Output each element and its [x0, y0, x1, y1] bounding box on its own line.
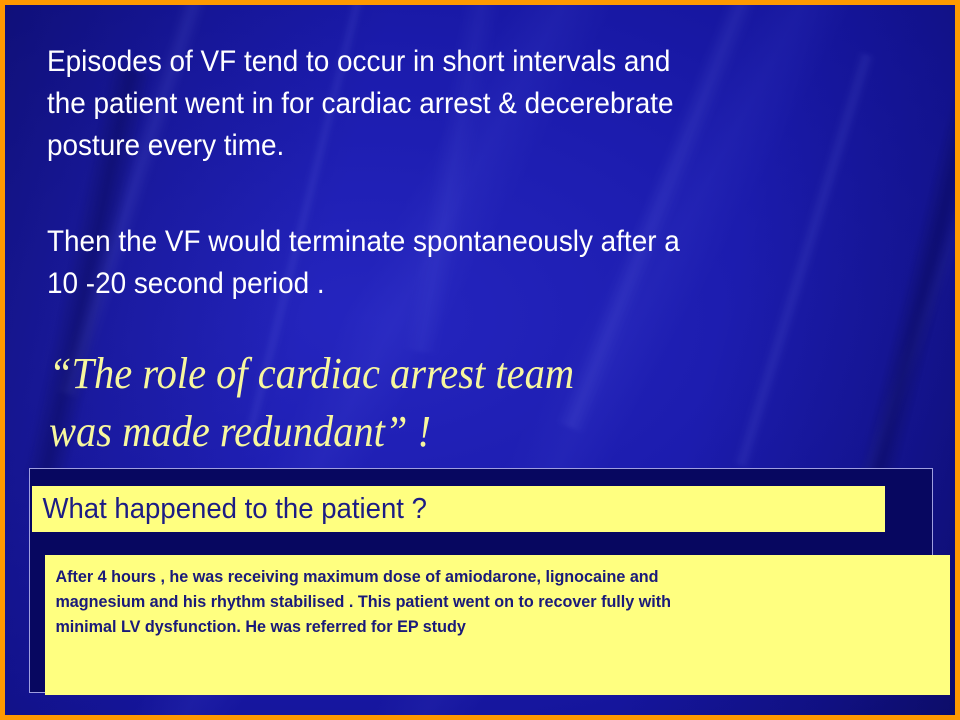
- question-banner: What happened to the patient ?: [32, 486, 885, 532]
- paragraph-vf-termination: Then the VF would terminate spontaneousl…: [47, 221, 940, 305]
- quote-cardiac-arrest-team: “The role of cardiac arrest team was mad…: [49, 345, 877, 461]
- paragraph-vf-episodes: Episodes of VF tend to occur in short in…: [47, 41, 940, 167]
- slide-canvas: Episodes of VF tend to occur in short in…: [0, 0, 960, 720]
- outcome-note-text: After 4 hours , he was receiving maximum…: [45, 555, 905, 639]
- question-banner-label: What happened to the patient ?: [32, 494, 427, 524]
- outcome-note-box: After 4 hours , he was receiving maximum…: [45, 555, 950, 695]
